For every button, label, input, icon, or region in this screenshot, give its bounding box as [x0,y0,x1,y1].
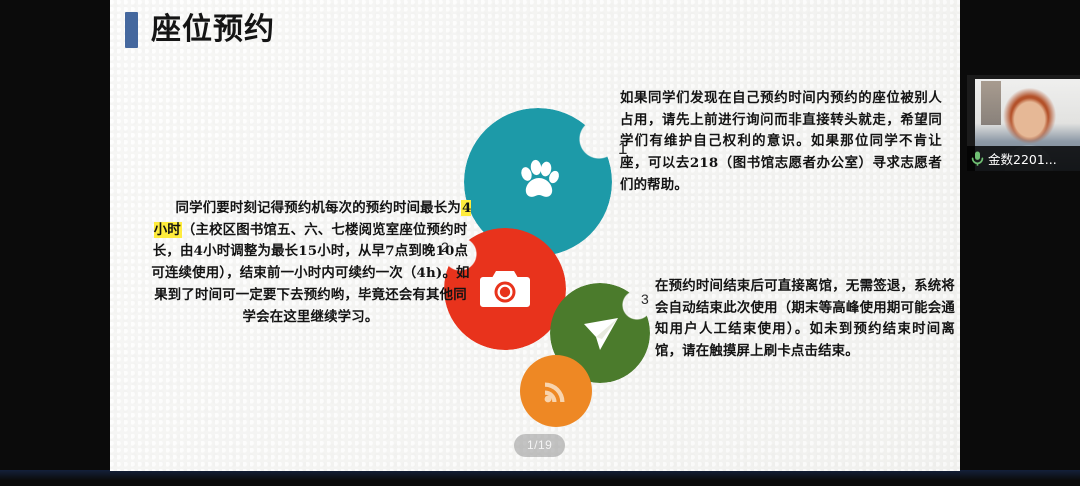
screen-share-view: 座位预约 同学们要时刻记得预约机每次的预约时间最长为4小时（主校区图书馆五、六、… [0,0,1080,486]
camera-icon [477,268,533,310]
microphone-icon [970,150,985,167]
circle-badge-3: 3 [641,292,649,306]
rss-icon [541,376,571,406]
participant-name-bar: 金数2201... [967,146,1080,171]
checkout-paragraph: 在预约时间结束后可直接离馆，无需签退，系统将会自动结束此次使用（期末等高峰使用期… [655,276,955,363]
participant-video-tile[interactable]: 金数2201... [967,75,1080,171]
participant-name: 金数2201... [988,149,1057,168]
slide-title-row: 座位预约 [125,12,275,48]
paragraph-run: 同学们要时刻记得预约机每次的预约时间最长为 [176,200,461,216]
paragraph-run: （主校区图书馆五、六、七楼阅览室座位预约时长，由4小时调整为最长15小时，从早7… [151,222,469,325]
title-accent-bar [125,12,138,48]
letterbox-bottom [0,470,1080,486]
seat-occupied-paragraph: 如果同学们发现在自己预约时间内预约的座位被别人占用，请先上前进行询问而非直接转头… [620,88,942,197]
letterbox-right [960,0,1080,486]
page-indicator[interactable]: 1/19 [514,434,565,457]
infographic-circle-4 [520,355,592,427]
letterbox-left [0,0,110,486]
booking-duration-paragraph: 同学们要时刻记得预约机每次的预约时间最长为4小时（主校区图书馆五、六、七楼阅览室… [148,198,473,328]
paper-plane-icon [578,311,622,355]
paw-icon [512,156,564,208]
page-title: 座位预约 [151,15,275,45]
presentation-slide[interactable]: 座位预约 同学们要时刻记得预约机每次的预约时间最长为4小时（主校区图书馆五、六、… [110,0,960,471]
